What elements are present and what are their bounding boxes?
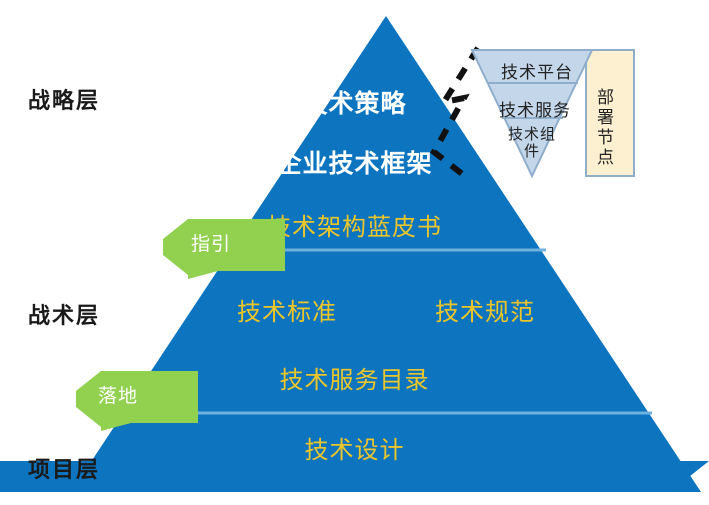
tier-label-project: 项目层	[28, 452, 100, 484]
inset-layer-tech-service: 技术服务	[499, 96, 571, 121]
pyramid-row-tech-design: 技术设计	[0, 430, 709, 465]
callout-arrow-land: 落地	[76, 371, 198, 433]
inset-callout: 技术平台 技术服务 技术组件 部署节点	[468, 48, 642, 181]
inset-layer-tech-component: 技术组件	[508, 126, 556, 160]
inset-layer-tech-platform: 技术平台	[501, 58, 573, 83]
callout-arrow-guide: 指引	[163, 219, 285, 281]
pyramid-row-tech-specification: 技术规范	[390, 292, 580, 327]
arrow-guide-label: 指引	[191, 229, 231, 256]
pyramid-row-architecture-bluebook: 技术架构蓝皮书	[0, 207, 709, 242]
diagram-canvas: 技术策略 企业技术框架 技术架构蓝皮书 技术标准 技术规范 技术服务目录 技术设…	[0, 0, 709, 505]
arrow-land-label: 落地	[98, 381, 138, 408]
pyramid-row-tech-standard: 技术标准	[192, 292, 382, 327]
inset-sidebar-label-deployment-node: 部署节点	[596, 88, 616, 168]
tier-label-strategy: 战略层	[28, 83, 100, 115]
tier-label-tactical: 战术层	[28, 298, 100, 330]
